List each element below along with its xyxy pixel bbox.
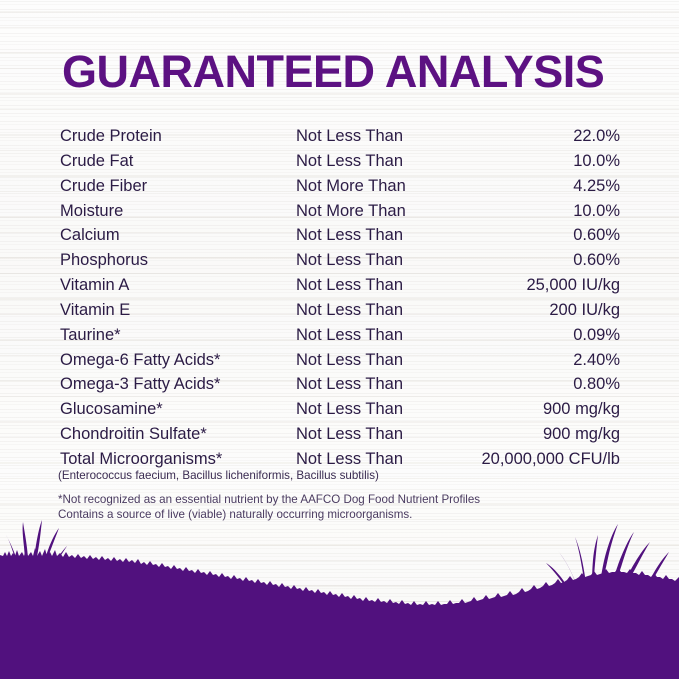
nutrient-value: 22.0% xyxy=(456,127,622,146)
nutrient-value: 0.80% xyxy=(456,375,622,394)
table-row: Chondroitin Sulfate* Not Less Than 900 m… xyxy=(60,425,622,450)
table-row: Phosphorus Not Less Than 0.60% xyxy=(60,251,622,276)
table-row: Taurine* Not Less Than 0.09% xyxy=(60,326,622,351)
nutrient-name: Glucosamine* xyxy=(60,400,296,419)
nutrient-value: 900 mg/kg xyxy=(456,400,622,419)
nutrient-name: Vitamin A xyxy=(60,276,296,295)
guaranteed-analysis-table: Crude Protein Not Less Than 22.0% Crude … xyxy=(60,127,622,475)
nutrient-value: 200 IU/kg xyxy=(456,301,622,320)
nutrient-value: 25,000 IU/kg xyxy=(456,276,622,295)
nutrient-qualifier: Not More Than xyxy=(296,177,456,196)
nutrient-qualifier: Not Less Than xyxy=(296,276,456,295)
nutrient-qualifier: Not Less Than xyxy=(296,351,456,370)
nutrient-name: Omega-3 Fatty Acids* xyxy=(60,375,296,394)
nutrient-name: Crude Fiber xyxy=(60,177,296,196)
nutrient-name: Phosphorus xyxy=(60,251,296,270)
table-row: Vitamin E Not Less Than 200 IU/kg xyxy=(60,301,622,326)
nutrient-value: 0.09% xyxy=(456,326,622,345)
nutrient-qualifier: Not Less Than xyxy=(296,326,456,345)
nutrient-qualifier: Not Less Than xyxy=(296,127,456,146)
guaranteed-analysis-panel: GUARANTEED ANALYSIS Crude Protein Not Le… xyxy=(0,0,679,679)
nutrient-value: 20,000,000 CFU/lb xyxy=(456,450,622,469)
nutrient-value: 2.40% xyxy=(456,351,622,370)
table-row: Vitamin A Not Less Than 25,000 IU/kg xyxy=(60,276,622,301)
nutrient-qualifier: Not Less Than xyxy=(296,251,456,270)
nutrient-qualifier: Not Less Than xyxy=(296,375,456,394)
nutrient-qualifier: Not More Than xyxy=(296,202,456,221)
nutrient-qualifier: Not Less Than xyxy=(296,400,456,419)
nutrient-name: Vitamin E xyxy=(60,301,296,320)
nutrient-name: Taurine* xyxy=(60,326,296,345)
table-row: Omega-3 Fatty Acids* Not Less Than 0.80% xyxy=(60,375,622,400)
grass-silhouette xyxy=(0,519,679,679)
nutrient-value: 900 mg/kg xyxy=(456,425,622,444)
nutrient-qualifier: Not Less Than xyxy=(296,450,456,469)
microorganism-strain-note: (Enterococcus faecium, Bacillus lichenif… xyxy=(58,469,379,482)
nutrient-value: 0.60% xyxy=(456,251,622,270)
nutrient-name: Total Microorganisms* xyxy=(60,450,296,469)
nutrient-qualifier: Not Less Than xyxy=(296,425,456,444)
nutrient-name: Crude Fat xyxy=(60,152,296,171)
table-row: Crude Fiber Not More Than 4.25% xyxy=(60,177,622,202)
nutrient-value: 10.0% xyxy=(456,152,622,171)
nutrient-value: 10.0% xyxy=(456,202,622,221)
table-row: Crude Fat Not Less Than 10.0% xyxy=(60,152,622,177)
page-title: GUARANTEED ANALYSIS xyxy=(62,46,604,98)
nutrient-qualifier: Not Less Than xyxy=(296,152,456,171)
nutrient-name: Omega-6 Fatty Acids* xyxy=(60,351,296,370)
table-row: Moisture Not More Than 10.0% xyxy=(60,202,622,227)
table-row: Crude Protein Not Less Than 22.0% xyxy=(60,127,622,152)
table-row: Omega-6 Fatty Acids* Not Less Than 2.40% xyxy=(60,351,622,376)
nutrient-name: Crude Protein xyxy=(60,127,296,146)
table-row: Glucosamine* Not Less Than 900 mg/kg xyxy=(60,400,622,425)
nutrient-value: 0.60% xyxy=(456,226,622,245)
nutrient-name: Moisture xyxy=(60,202,296,221)
nutrient-qualifier: Not Less Than xyxy=(296,301,456,320)
nutrient-value: 4.25% xyxy=(456,177,622,196)
nutrient-name: Chondroitin Sulfate* xyxy=(60,425,296,444)
footnotes: *Not recognized as an essential nutrient… xyxy=(58,493,480,522)
footnote-aafco: *Not recognized as an essential nutrient… xyxy=(58,493,480,508)
nutrient-name: Calcium xyxy=(60,226,296,245)
nutrient-qualifier: Not Less Than xyxy=(296,226,456,245)
table-row: Calcium Not Less Than 0.60% xyxy=(60,226,622,251)
